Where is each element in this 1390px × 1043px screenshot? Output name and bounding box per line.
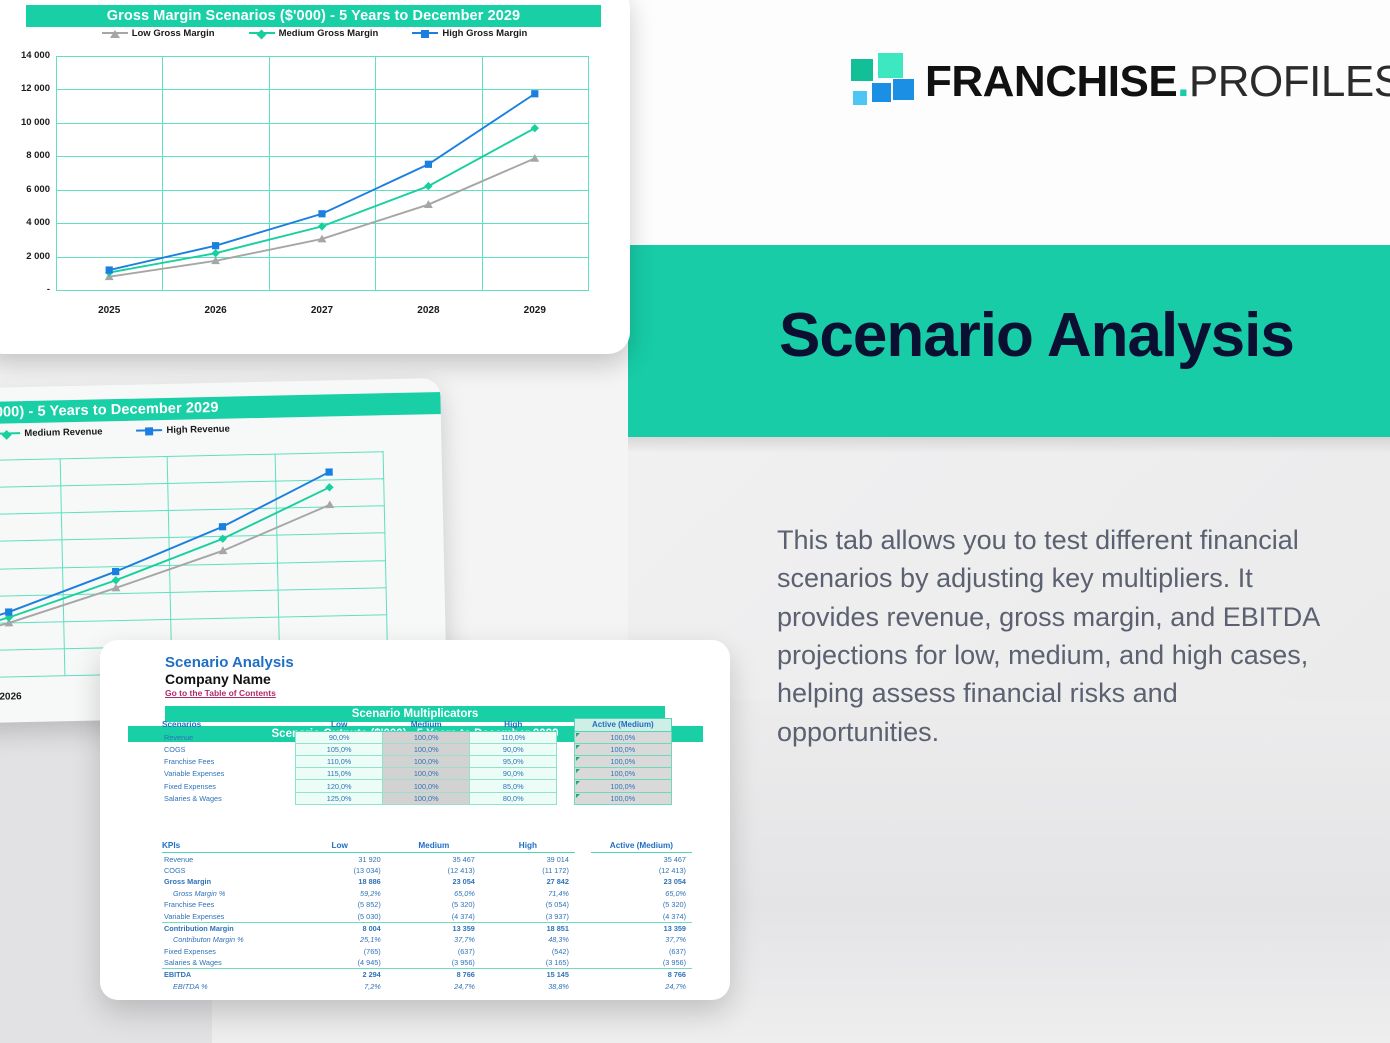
cell-low: 18 886 — [293, 876, 387, 887]
data-point-marker — [106, 266, 113, 273]
cell-medium: 24,7% — [387, 981, 481, 992]
table-row: Variable Expenses115,0%100,0%90,0%100,0% — [162, 768, 672, 780]
spacer-cell — [575, 910, 591, 922]
x-axis-tick-label: 2027 — [292, 305, 352, 316]
data-point-marker — [531, 124, 539, 132]
cell-medium: (637) — [387, 946, 481, 957]
data-point-marker — [318, 222, 326, 230]
row-label: Contribution Margin — [162, 922, 293, 934]
y-axis-tick-label: - — [0, 284, 50, 295]
data-point-marker — [112, 576, 121, 585]
data-point-marker — [211, 249, 219, 257]
spacer-cell — [557, 780, 574, 792]
header-high: High — [481, 840, 575, 853]
cell-high: 15 145 — [481, 969, 575, 981]
data-point-marker — [318, 210, 325, 217]
page-title: Scenario Analysis — [779, 303, 1294, 368]
y-axis-tick-label: 10 000 — [0, 117, 50, 128]
cell-medium: 37,7% — [387, 934, 481, 945]
row-label: COGS — [162, 865, 293, 876]
legend-item-high-revenue: High Revenue — [136, 423, 230, 436]
data-point-marker — [212, 242, 219, 249]
row-label: Revenue — [162, 731, 296, 743]
cell-high: 27 842 — [481, 876, 575, 887]
cell-high: (5 054) — [481, 899, 575, 910]
cell-medium: (5 320) — [387, 899, 481, 910]
legend-label-medium-revenue: Medium Revenue — [24, 426, 102, 439]
cell-high[interactable]: 90,0% — [470, 768, 557, 780]
series-line — [0, 487, 333, 648]
cell-medium[interactable]: 100,0% — [383, 756, 470, 768]
table-row: Revenue90,0%100,0%110,0%100,0% — [162, 731, 672, 743]
sheet-header: Scenario Analysis Company Name Go to the… — [100, 654, 730, 699]
gross-margin-chart-card: Gross Margin Scenarios ($'000) - 5 Years… — [0, 0, 630, 354]
cell-low: 31 920 — [293, 853, 387, 865]
scenario-analysis-sheet-card: Scenario Analysis Company Name Go to the… — [100, 640, 730, 1000]
cell-medium[interactable]: 100,0% — [383, 768, 470, 780]
cell-low[interactable]: 125,0% — [296, 792, 383, 804]
data-point-marker — [424, 182, 432, 190]
revenue-chart-legend: Low Revenue Medium Revenue High Revenue — [0, 419, 349, 443]
legend-line-green-icon — [249, 32, 275, 34]
legend-label-low: Low Gross Margin — [132, 28, 215, 39]
row-label: Gross Margin — [162, 876, 293, 887]
header-low: Low — [296, 719, 383, 732]
cell-low[interactable]: 90,0% — [296, 731, 383, 743]
legend-line-green-icon — [0, 432, 20, 435]
spacer-cell — [575, 946, 591, 957]
table-row: COGS105,0%100,0%90,0%100,0% — [162, 743, 672, 755]
cell-high: 71,4% — [481, 888, 575, 899]
title-banner-shadow — [628, 437, 1390, 453]
legend-line-blue-icon — [136, 429, 162, 432]
cell-low: (5 852) — [293, 899, 387, 910]
y-axis-tick-label: 8 000 — [0, 150, 50, 161]
cell-active[interactable]: 100,0% — [574, 743, 671, 755]
spacer-cell — [557, 792, 574, 804]
row-label: Variable Expenses — [162, 768, 296, 780]
cell-active: 24,7% — [591, 981, 692, 992]
x-axis-tick-label: 2028 — [398, 305, 458, 316]
row-label: Contributon Margin % — [162, 934, 293, 945]
table-row: Fixed Expenses(765)(637)(542)(637) — [162, 946, 692, 957]
spacer-cell — [575, 888, 591, 899]
header-kpis: KPIs — [162, 840, 293, 853]
y-axis-tick-label: 6 000 — [0, 184, 50, 195]
spacer-cell — [575, 840, 591, 853]
header-active: Active (Medium) — [574, 719, 671, 732]
data-point-marker — [218, 534, 227, 543]
cell-active[interactable]: 100,0% — [574, 792, 671, 804]
spacer-cell — [575, 899, 591, 910]
cell-low[interactable]: 105,0% — [296, 743, 383, 755]
table-row: Variable Expenses(5 030)(4 374)(3 937)(4… — [162, 910, 692, 922]
cell-medium: 23 054 — [387, 876, 481, 887]
table-row: Contributon Margin %25,1%37,7%48,3%37,7% — [162, 934, 692, 945]
cell-medium: (4 374) — [387, 910, 481, 922]
header-high: High — [470, 719, 557, 732]
spacer-cell — [575, 957, 591, 969]
spacer-cell — [575, 934, 591, 945]
row-label: EBITDA — [162, 969, 293, 981]
table-row: EBITDA2 2948 76615 1458 766 — [162, 969, 692, 981]
row-label: Fixed Expenses — [162, 946, 293, 957]
table-row: Franchise Fees110,0%100,0%95,0%100,0% — [162, 756, 672, 768]
row-label: COGS — [162, 743, 296, 755]
cell-active: 37,7% — [591, 934, 692, 945]
header-scenarios: Scenarios — [162, 719, 296, 732]
row-label: Salaries & Wages — [162, 792, 296, 804]
cell-low: 7,2% — [293, 981, 387, 992]
table-row: Franchise Fees(5 852)(5 320)(5 054)(5 32… — [162, 899, 692, 910]
spacer-cell — [557, 756, 574, 768]
legend-line-blue-icon — [412, 32, 438, 34]
x-axis-tick-label: 2026 — [0, 691, 41, 703]
gross-margin-plot-area: 14 00012 00010 0008 0006 0004 0002 000-2… — [56, 56, 589, 291]
brand-logo: FRANCHISE.PROFILES — [845, 46, 1345, 118]
header-active: Active (Medium) — [591, 840, 692, 853]
cell-medium: (12 413) — [387, 865, 481, 876]
spacer-cell — [575, 865, 591, 876]
cell-high[interactable]: 85,0% — [470, 780, 557, 792]
series-line — [0, 472, 333, 645]
cell-active[interactable]: 100,0% — [574, 731, 671, 743]
cell-high: (3 165) — [481, 957, 575, 969]
scenario-outputs-table: KPIs Low Medium High Active (Medium) Rev… — [162, 840, 692, 992]
gross-margin-chart-legend: Low Gross Margin Medium Gross Margin Hig… — [42, 26, 587, 40]
cell-active[interactable]: 100,0% — [574, 768, 671, 780]
cell-high: (3 937) — [481, 910, 575, 922]
cell-high[interactable]: 95,0% — [470, 756, 557, 768]
logo-word-bold: FRANCHISE — [925, 57, 1177, 106]
cell-low: 59,2% — [293, 888, 387, 899]
cell-high[interactable]: 80,0% — [470, 792, 557, 804]
logo-word-dot: . — [1177, 57, 1189, 106]
sheet-company-name: Company Name — [165, 671, 730, 688]
cell-medium[interactable]: 100,0% — [383, 731, 470, 743]
y-axis-tick-label: 14 000 — [0, 50, 50, 61]
legend-item-high: High Gross Margin — [412, 28, 527, 39]
spacer-cell — [557, 719, 574, 732]
cell-active: 13 359 — [591, 922, 692, 934]
logo-wordmark: FRANCHISE.PROFILES — [925, 60, 1390, 104]
x-axis-tick-label: 2026 — [186, 305, 246, 316]
cell-low[interactable]: 120,0% — [296, 780, 383, 792]
cell-high[interactable]: 90,0% — [470, 743, 557, 755]
series-line — [109, 128, 535, 272]
x-axis-tick-label: 2025 — [79, 305, 139, 316]
y-axis-tick-label: 4 000 — [0, 217, 50, 228]
cell-low[interactable]: 115,0% — [296, 768, 383, 780]
cell-active: 35 467 — [591, 853, 692, 865]
logo-word-light: PROFILES — [1189, 57, 1390, 106]
cell-active: (637) — [591, 946, 692, 957]
cell-low: (5 030) — [293, 910, 387, 922]
table-row: Salaries & Wages(4 945)(3 956)(3 165)(3 … — [162, 957, 692, 969]
data-point-marker — [325, 483, 334, 492]
cell-high: 18 851 — [481, 922, 575, 934]
cell-medium[interactable]: 100,0% — [383, 792, 470, 804]
row-label: Salaries & Wages — [162, 957, 293, 969]
legend-label-high: High Gross Margin — [442, 28, 527, 39]
cell-low: (4 945) — [293, 957, 387, 969]
row-label: Revenue — [162, 853, 293, 865]
cell-active: (12 413) — [591, 865, 692, 876]
cell-active: (5 320) — [591, 899, 692, 910]
data-point-marker — [531, 90, 538, 97]
cell-medium: (3 956) — [387, 957, 481, 969]
data-point-marker — [530, 154, 539, 162]
cell-active[interactable]: 100,0% — [574, 756, 671, 768]
data-point-marker — [325, 500, 334, 508]
spacer-cell — [557, 743, 574, 755]
table-row: Contribution Margin8 00413 35918 85113 3… — [162, 922, 692, 934]
legend-label-high-revenue: High Revenue — [166, 423, 230, 435]
header-medium: Medium — [387, 840, 481, 853]
background-panel-top — [628, 0, 1390, 245]
scenario-multiplicators-table: Scenarios Low Medium High Active (Medium… — [162, 718, 672, 805]
legend-item-medium: Medium Gross Margin — [249, 28, 379, 39]
logo-squares-icon — [845, 53, 903, 111]
cell-high: 48,3% — [481, 934, 575, 945]
spacer-cell — [575, 981, 591, 992]
header-low: Low — [293, 840, 387, 853]
table-header-row: Scenarios Low Medium High Active (Medium… — [162, 719, 672, 732]
spacer-cell — [557, 768, 574, 780]
row-label: Variable Expenses — [162, 910, 293, 922]
row-label: Fixed Expenses — [162, 780, 296, 792]
series-line — [0, 505, 333, 652]
row-label: Gross Margin % — [162, 888, 293, 899]
spacer-cell — [575, 876, 591, 887]
legend-label-medium: Medium Gross Margin — [279, 28, 379, 39]
cell-active: (4 374) — [591, 910, 692, 922]
cell-active: 8 766 — [591, 969, 692, 981]
cell-high: 38,8% — [481, 981, 575, 992]
cell-active: (3 956) — [591, 957, 692, 969]
header-medium: Medium — [383, 719, 470, 732]
data-point-marker — [425, 161, 432, 168]
spacer-cell — [557, 731, 574, 743]
legend-line-grey-icon — [102, 32, 128, 34]
cell-low: (13 034) — [293, 865, 387, 876]
table-row: EBITDA %7,2%24,7%38,8%24,7% — [162, 981, 692, 992]
cell-high: (11 172) — [481, 865, 575, 876]
sheet-title: Scenario Analysis — [165, 654, 730, 671]
table-row: COGS(13 034)(12 413)(11 172)(12 413) — [162, 865, 692, 876]
cell-active: 65,0% — [591, 888, 692, 899]
cell-medium[interactable]: 100,0% — [383, 743, 470, 755]
cell-medium: 8 766 — [387, 969, 481, 981]
row-label: Franchise Fees — [162, 899, 293, 910]
cell-high: 39 014 — [481, 853, 575, 865]
cell-low[interactable]: 110,0% — [296, 756, 383, 768]
cell-medium[interactable]: 100,0% — [383, 780, 470, 792]
spacer-cell — [575, 969, 591, 981]
cell-high: (542) — [481, 946, 575, 957]
table-header-row: KPIs Low Medium High Active (Medium) — [162, 840, 692, 853]
chart-series-layer — [56, 56, 589, 291]
spacer-cell — [575, 853, 591, 865]
cell-medium: 35 467 — [387, 853, 481, 865]
data-point-marker — [5, 608, 12, 615]
table-of-contents-link[interactable]: Go to the Table of Contents — [165, 688, 730, 699]
series-line — [109, 94, 535, 270]
page-description: This tab allows you to test different fi… — [777, 521, 1322, 751]
cell-medium: 13 359 — [387, 922, 481, 934]
cell-low: 8 004 — [293, 922, 387, 934]
row-label: EBITDA % — [162, 981, 293, 992]
table-row: Fixed Expenses120,0%100,0%85,0%100,0% — [162, 780, 672, 792]
cell-low: 2 294 — [293, 969, 387, 981]
cell-low: (765) — [293, 946, 387, 957]
gross-margin-chart-title: Gross Margin Scenarios ($'000) - 5 Years… — [26, 5, 601, 27]
table-row: Salaries & Wages125,0%100,0%80,0%100,0% — [162, 792, 672, 804]
cell-high[interactable]: 110,0% — [470, 731, 557, 743]
spacer-cell — [575, 922, 591, 934]
cell-low: 25,1% — [293, 934, 387, 945]
series-line — [109, 158, 535, 276]
cell-medium: 65,0% — [387, 888, 481, 899]
data-point-marker — [112, 568, 119, 575]
table-row: Revenue31 92035 46739 01435 467 — [162, 853, 692, 865]
table-row: Gross Margin %59,2%65,0%71,4%65,0% — [162, 888, 692, 899]
legend-item-medium-revenue: Medium Revenue — [0, 426, 103, 439]
cell-active: 23 054 — [591, 876, 692, 887]
y-axis-tick-label: 2 000 — [0, 251, 50, 262]
data-point-marker — [219, 523, 226, 530]
table-row: Gross Margin18 88623 05427 84223 054 — [162, 876, 692, 887]
x-axis-tick-label: 2029 — [505, 305, 565, 316]
legend-item-low: Low Gross Margin — [102, 28, 215, 39]
cell-active[interactable]: 100,0% — [574, 780, 671, 792]
row-label: Franchise Fees — [162, 756, 296, 768]
y-axis-tick-label: 12 000 — [0, 83, 50, 94]
data-point-marker — [325, 468, 332, 475]
